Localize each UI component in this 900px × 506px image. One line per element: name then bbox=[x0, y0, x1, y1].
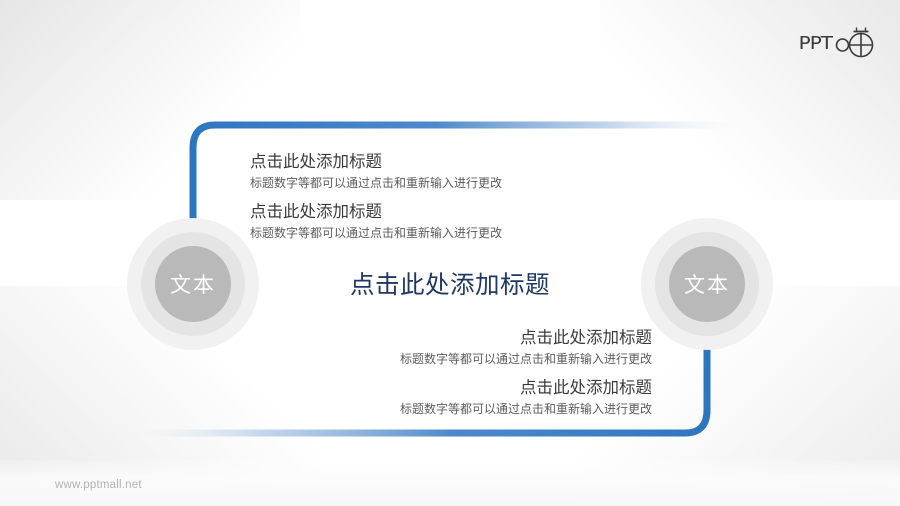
center-title[interactable]: 点击此处添加标题 bbox=[0, 266, 900, 301]
slide-canvas: PPT bbox=[0, 0, 900, 506]
text-block-bottom-2-title[interactable]: 点击此处添加标题 bbox=[400, 378, 652, 399]
footer-url: www.pptmall.net bbox=[55, 479, 142, 491]
text-block-top-2-title[interactable]: 点击此处添加标题 bbox=[250, 202, 502, 223]
text-block-top-1-subtitle[interactable]: 标题数字等都可以通过点击和重新输入进行更改 bbox=[250, 175, 502, 191]
text-block-bottom-2-subtitle[interactable]: 标题数字等都可以通过点击和重新输入进行更改 bbox=[400, 401, 652, 417]
text-block-bottom-1-subtitle[interactable]: 标题数字等都可以通过点击和重新输入进行更改 bbox=[400, 351, 652, 367]
text-block-top-2[interactable]: 点击此处添加标题 标题数字等都可以通过点击和重新输入进行更改 bbox=[250, 202, 502, 241]
text-block-bottom-1-title[interactable]: 点击此处添加标题 bbox=[400, 328, 652, 349]
text-block-bottom-1[interactable]: 点击此处添加标题 标题数字等都可以通过点击和重新输入进行更改 bbox=[400, 328, 652, 367]
text-block-top-2-subtitle[interactable]: 标题数字等都可以通过点击和重新输入进行更改 bbox=[250, 225, 502, 241]
text-block-bottom-2[interactable]: 点击此处添加标题 标题数字等都可以通过点击和重新输入进行更改 bbox=[400, 378, 652, 417]
text-block-top-1-title[interactable]: 点击此处添加标题 bbox=[250, 152, 502, 173]
text-block-top-1[interactable]: 点击此处添加标题 标题数字等都可以通过点击和重新输入进行更改 bbox=[250, 152, 502, 191]
